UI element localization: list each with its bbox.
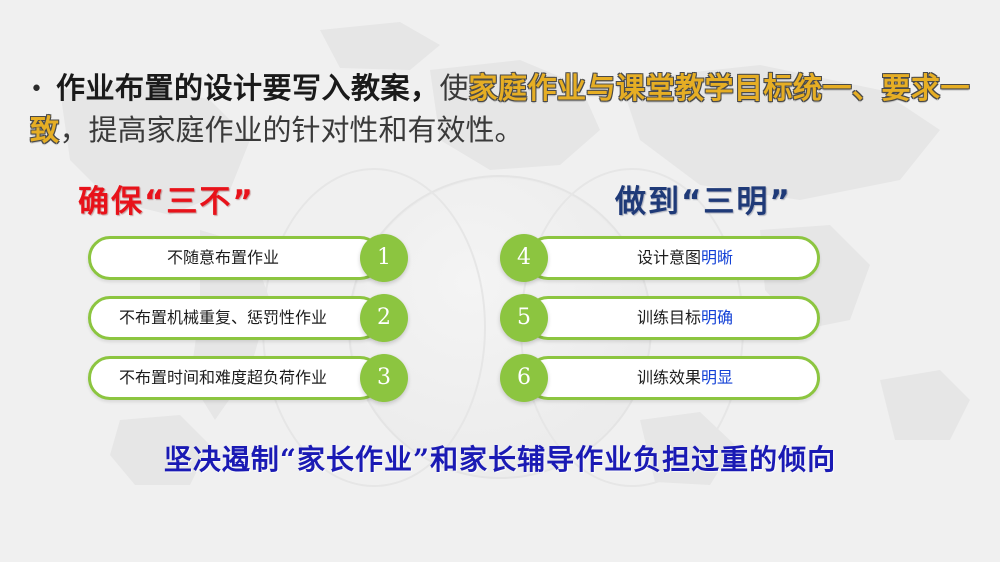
list-item-label-base: 训练目标 bbox=[637, 308, 701, 327]
list-item-label: 不布置机械重复、惩罚性作业 bbox=[88, 296, 358, 340]
slide-canvas: •作业布置的设计要写入教案，使家庭作业与课堂教学目标统一、要求一致，提高家庭作业… bbox=[0, 0, 1000, 562]
list-item-number: 4 bbox=[500, 234, 548, 282]
list-item-number: 3 bbox=[360, 354, 408, 402]
section-heading-right: 做到“三明” bbox=[615, 176, 792, 221]
list-item-label: 训练效果明显 bbox=[550, 356, 820, 400]
list-item[interactable]: 不布置机械重复、惩罚性作业 2 bbox=[88, 296, 408, 342]
left-item-column: 不随意布置作业 1 不布置机械重复、惩罚性作业 2 不布置时间和难度超负荷作业 … bbox=[88, 236, 408, 416]
list-item-label: 不随意布置作业 bbox=[88, 236, 358, 280]
list-item[interactable]: 设计意图明晰 4 bbox=[500, 236, 820, 282]
list-item-label-base: 设计意图 bbox=[637, 248, 701, 267]
list-item-number: 2 bbox=[360, 294, 408, 342]
bullet-glyph: • bbox=[30, 70, 56, 110]
lead-part-2: 使 bbox=[440, 71, 469, 105]
lead-paragraph: •作业布置的设计要写入教案，使家庭作业与课堂教学目标统一、要求一致，提高家庭作业… bbox=[30, 68, 980, 150]
list-item-label-base: 训练效果 bbox=[637, 368, 701, 387]
list-item-label: 训练目标明确 bbox=[550, 296, 820, 340]
lead-part-1: 作业布置的设计要写入教案， bbox=[56, 71, 440, 105]
list-item[interactable]: 训练目标明确 5 bbox=[500, 296, 820, 342]
list-item-label-highlight: 明晰 bbox=[701, 248, 733, 267]
list-item-label: 不布置时间和难度超负荷作业 bbox=[88, 356, 358, 400]
list-item[interactable]: 训练效果明显 6 bbox=[500, 356, 820, 402]
list-item-number: 6 bbox=[500, 354, 548, 402]
list-item-label-highlight: 明确 bbox=[701, 308, 733, 327]
list-item[interactable]: 不布置时间和难度超负荷作业 3 bbox=[88, 356, 408, 402]
list-item-label: 设计意图明晰 bbox=[550, 236, 820, 280]
lead-part-4: ，提高家庭作业的针对性和有效性。 bbox=[60, 113, 524, 147]
list-item-number: 5 bbox=[500, 294, 548, 342]
list-item-number: 1 bbox=[360, 234, 408, 282]
right-item-column: 设计意图明晰 4 训练目标明确 5 训练效果明显 6 bbox=[500, 236, 820, 416]
section-heading-left: 确保“三不” bbox=[78, 176, 255, 221]
list-item[interactable]: 不随意布置作业 1 bbox=[88, 236, 408, 282]
list-item-label-highlight: 明显 bbox=[701, 368, 733, 387]
footer-statement: 坚决遏制“家长作业”和家长辅导作业负担过重的倾向 bbox=[0, 438, 1000, 478]
